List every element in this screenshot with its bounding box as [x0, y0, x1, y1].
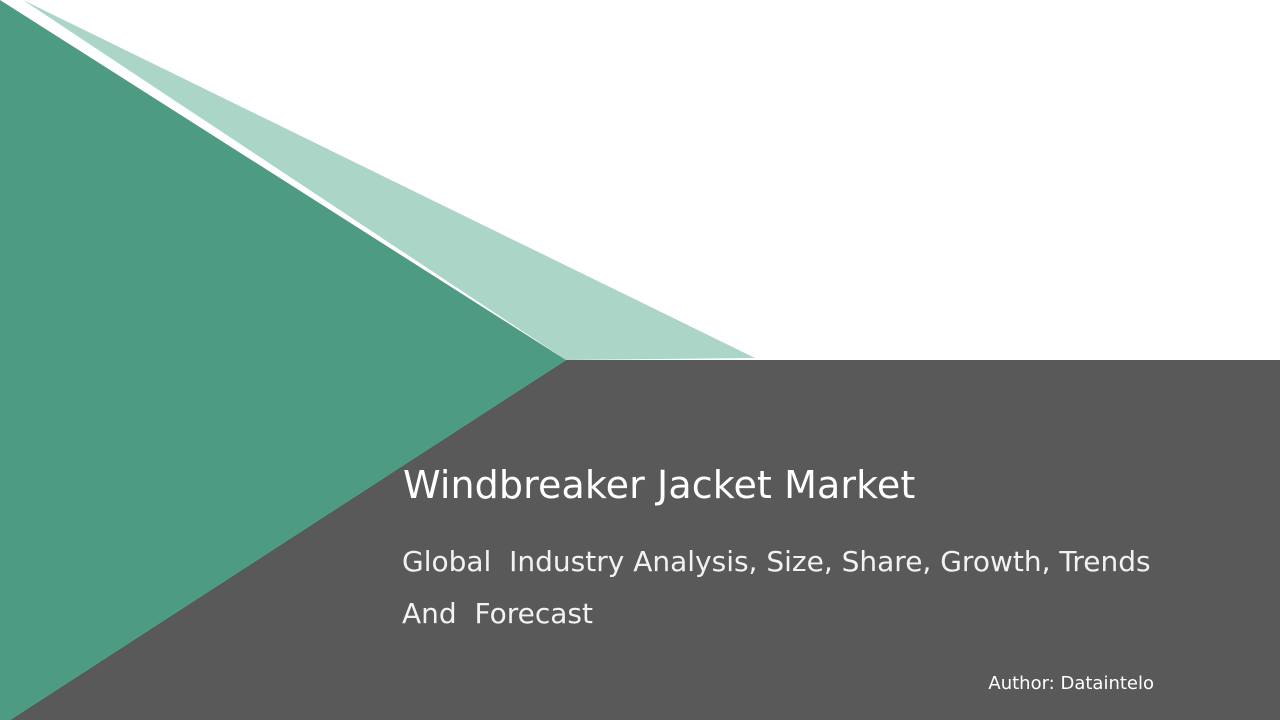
- author-credit: Author: Dataintelo: [600, 672, 1154, 696]
- cover-text-block: Windbreaker Jacket Market Global Industr…: [0, 0, 1280, 720]
- slide-title: Windbreaker Jacket Market: [403, 463, 1223, 507]
- slide-subtitle: Global Industry Analysis, Size, Share, G…: [402, 536, 1192, 640]
- report-cover-slide: Windbreaker Jacket Market Global Industr…: [0, 0, 1280, 720]
